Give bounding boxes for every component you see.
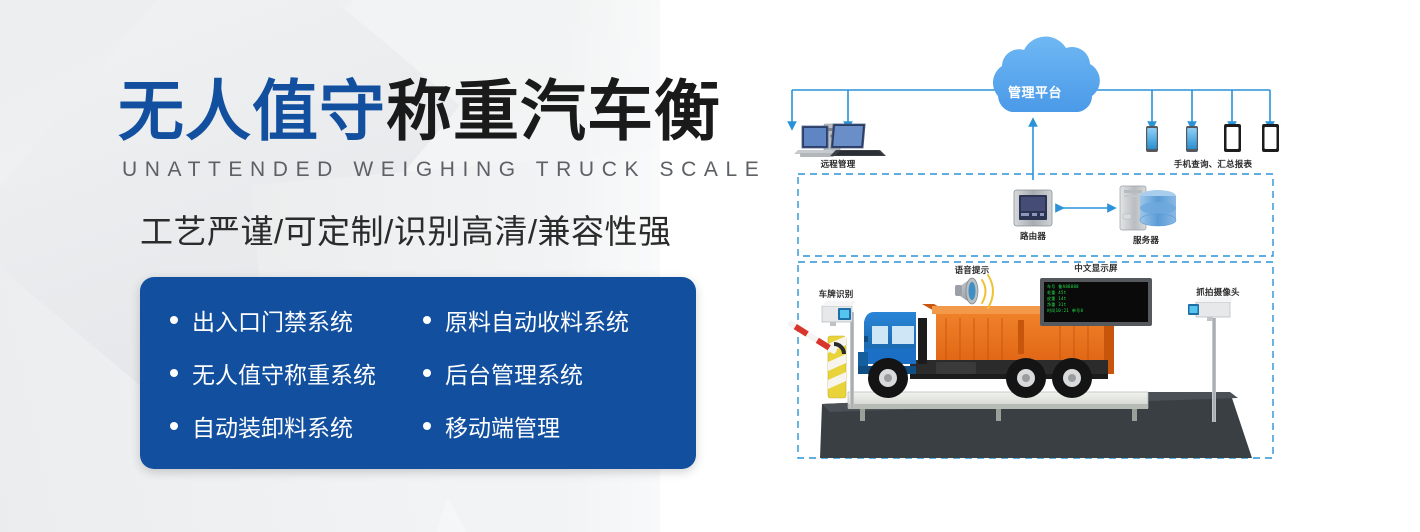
led-display-content: 车号 鲁A88888 毛重 45t 皮重 14t 净重 31t 时间10:21 … bbox=[1047, 284, 1147, 314]
title-rest: 称重汽车衡 bbox=[386, 58, 721, 154]
phone-tablet-icon bbox=[1146, 124, 1279, 152]
bullet-dot-icon bbox=[423, 316, 431, 324]
page-title: 无人值守 称重汽车衡 bbox=[118, 58, 721, 154]
english-subtitle: UNATTENDED WEIGHING TRUCK SCALE bbox=[122, 158, 766, 182]
router-icon bbox=[1014, 190, 1052, 226]
label-remote-management: 远程管理 bbox=[798, 158, 878, 170]
title-highlight: 无人值守 bbox=[118, 58, 386, 154]
headline-column: 无人值守 称重汽车衡 UNATTENDED WEIGHING TRUCK SCA… bbox=[0, 0, 760, 532]
label-server: 服务器 bbox=[1118, 234, 1174, 246]
label-voice-prompt: 语音提示 bbox=[942, 264, 1002, 276]
promo-banner: 无人值守 称重汽车衡 UNATTENDED WEIGHING TRUCK SCA… bbox=[0, 0, 1420, 532]
barrier-gate bbox=[787, 320, 846, 398]
bullet-dot-icon bbox=[423, 422, 431, 430]
list-item-label: 后台管理系统 bbox=[445, 356, 583, 390]
label-chinese-display: 中文显示屏 bbox=[1060, 262, 1132, 274]
cloud-label: 管理平台 bbox=[1008, 82, 1062, 101]
label-plate-recognition: 车牌识别 bbox=[808, 288, 864, 300]
list-item: 后台管理系统 bbox=[423, 356, 676, 390]
list-item: 原料自动收料系统 bbox=[423, 303, 676, 337]
laptop-desktop-icon bbox=[794, 124, 886, 157]
bullet-dot-icon bbox=[170, 316, 178, 324]
speaker-icon bbox=[955, 275, 993, 308]
bullet-dot-icon bbox=[423, 369, 431, 377]
system-architecture-diagram: 管理平台 远程管理 手机查询、汇总报表 路由器 服务器 语音提示 中文显示屏 车… bbox=[760, 0, 1420, 532]
list-item-label: 无人值守称重系统 bbox=[192, 356, 376, 390]
label-capture-camera: 抓拍摄像头 bbox=[1184, 286, 1252, 298]
list-item-label: 移动端管理 bbox=[445, 409, 560, 443]
label-router: 路由器 bbox=[1008, 230, 1058, 242]
label-mobile-query: 手机查询、汇总报表 bbox=[1158, 158, 1268, 170]
list-item: 自动装卸料系统 bbox=[170, 409, 423, 443]
list-item-label: 原料自动收料系统 bbox=[445, 303, 629, 337]
bullet-dot-icon bbox=[170, 422, 178, 430]
list-item: 出入口门禁系统 bbox=[170, 303, 423, 337]
bullet-dot-icon bbox=[170, 369, 178, 377]
led-line: 时间10:21 单号8 bbox=[1047, 308, 1147, 314]
tagline: 工艺严谨/可定制/识别高清/兼容性强 bbox=[140, 205, 672, 253]
list-item: 无人值守称重系统 bbox=[170, 356, 423, 390]
feature-list-box: 出入口门禁系统 原料自动收料系统 无人值守称重系统 后台管理系统 自动装卸料系统… bbox=[140, 277, 696, 469]
list-item-label: 出入口门禁系统 bbox=[192, 303, 353, 337]
list-item: 移动端管理 bbox=[423, 409, 676, 443]
server-icon bbox=[1120, 186, 1176, 230]
list-item-label: 自动装卸料系统 bbox=[192, 409, 353, 443]
